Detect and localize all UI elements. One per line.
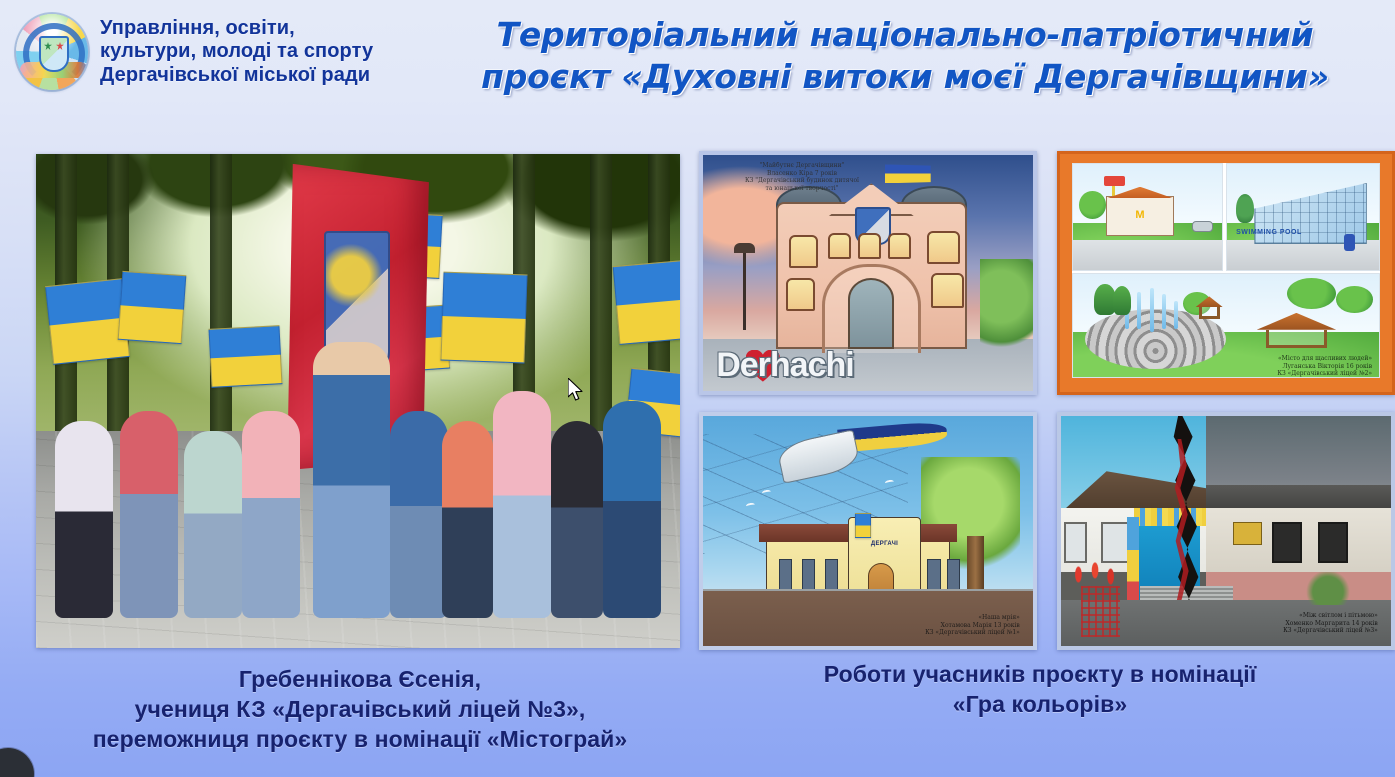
artwork-credit: «Між світлом і пітьмою» Хоменко Маргарит… [1173,612,1378,635]
memorial-plaque [1233,522,1263,545]
restaurant-building: M [1106,196,1174,236]
tree-icon [1287,278,1336,309]
station-window [779,559,792,591]
ukrainian-flag [612,260,680,345]
gazebo-base [1199,307,1220,319]
child-figure [493,391,551,618]
slide-header: Управління, освіти, культури, молоді та … [0,0,1395,112]
building-window [888,233,911,259]
winner-caption: Гребеннікова Єсенія, учениця КЗ «Дергачі… [20,665,700,755]
panel-road [1073,240,1222,270]
panel-road [1227,240,1379,270]
emblem-disc [16,14,88,90]
child-figure [390,411,448,618]
drawing-derhachi-railway-station[interactable]: ДЕРГАЧІ «Наша мрія» Хотамова Марія 13 ро… [699,412,1037,650]
ukrainian-flag [855,513,872,538]
station-window [947,559,960,591]
emblem-shield-icon [39,36,69,72]
water-jet [1150,288,1154,331]
panel-mcdonalds: M [1072,163,1223,271]
drawing-city-of-dreams[interactable]: M SWIMMING POOL [1057,151,1395,395]
building-window [828,233,851,259]
decorative-pillar [1127,517,1139,600]
car-icon [1192,221,1213,232]
children-parade-photo[interactable] [36,154,680,648]
station-window [927,559,940,591]
child-figure [603,401,661,618]
building-window-broken [1272,522,1302,563]
building-window [858,233,881,259]
derhachi-emblem-icon [14,10,90,94]
building-door [848,278,894,349]
street-lamp-icon [743,249,746,329]
child-figure [55,421,113,619]
water-jet [1174,301,1178,330]
ukrainian-flag [117,270,186,343]
child-figure [120,411,178,618]
child-figure [184,431,242,619]
child-figure [442,421,494,619]
child-figure [551,421,603,619]
page-title: Територіальний національно-патріотичний … [415,14,1395,98]
drawing-sheet: M SWIMMING POOL [1072,163,1380,378]
building-window [786,278,816,311]
gazebo-roof [1257,313,1337,330]
bush-icon [1305,572,1351,604]
ukrainian-flag [208,325,282,388]
drawing-i-love-derhachi[interactable]: Derhachi "Майбутнє Дергачівщини" Власенк… [699,151,1037,395]
child-figure-flagbearer [313,342,390,619]
golden-arches-icon: M [1133,210,1146,228]
gazebo-roof [1195,296,1223,307]
tree-icon [980,259,1033,353]
station-window [802,559,815,591]
station-window [825,559,838,591]
building-base-damaged [1206,572,1391,600]
gazebo-base [1266,330,1326,348]
restaurant-sign [1104,176,1125,187]
gazebo-icon [1257,313,1337,348]
tree-trunk [967,536,984,596]
artwork-credit: "Майбутнє Дергачівщини" Власенко Кіра 7 … [716,162,888,192]
water-jet [1137,292,1141,329]
organization-logo-block: Управління, освіти, культури, молоді та … [14,10,373,94]
building-window-broken [1318,522,1348,563]
water-jet [1162,294,1166,329]
station-name-sign: ДЕРГАЧІ [858,540,911,558]
ukrainian-flag [440,271,527,363]
drawing-between-light-and-darkness[interactable]: «Між світлом і пітьмою» Хоменко Маргарит… [1057,412,1395,650]
building-window [927,231,960,264]
building-window [931,273,964,308]
building-window [789,235,819,268]
ukrainian-flag [45,279,130,366]
person-figure [1344,234,1355,251]
artwork-credit: «Наша мрія» Хотамова Марія 13 років КЗ «… [828,614,1019,637]
panel-swimming-pool: SWIMMING POOL [1226,163,1380,271]
tree-icon [1336,286,1373,313]
tree-icon [1236,194,1254,224]
small-gazebo-icon [1195,296,1223,319]
tree-icon [1113,286,1131,315]
swimming-pool-sign: SWIMMING POOL [1236,229,1302,236]
artwork-credit: «Місто для щасливих людей» Луганська Вік… [1180,355,1373,378]
participants-caption: Роботи учасників проєкту в номінації «Гр… [700,660,1380,720]
derhachi-sign-text: Derhachi [716,348,1020,382]
ukrainian-flag [885,164,931,183]
child-figure [242,411,300,618]
organization-name: Управління, освіти, культури, молоді та … [100,17,373,88]
wall-stencil [1081,586,1121,637]
tree-icon [1079,191,1106,218]
